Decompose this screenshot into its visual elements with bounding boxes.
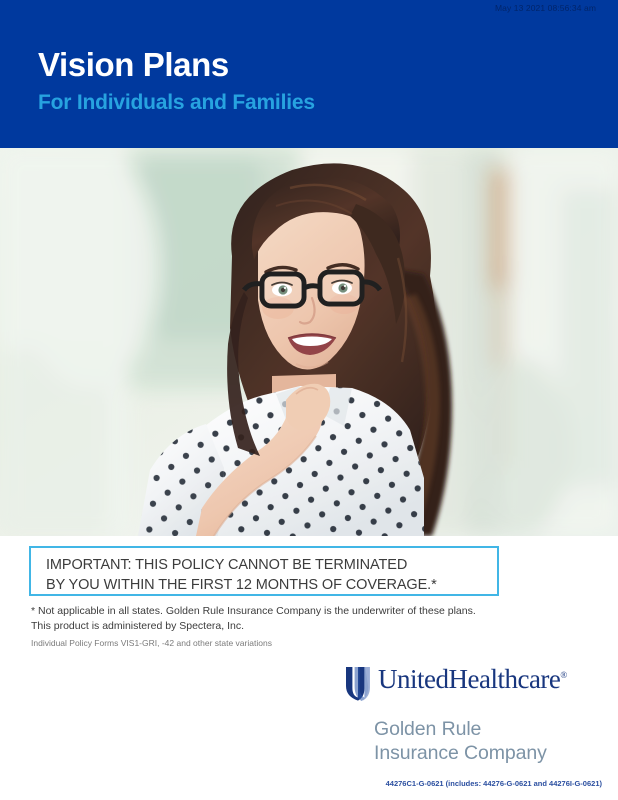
unitedhealthcare-wordmark: UnitedHealthcare® [378,666,567,693]
registered-trademark-symbol: ® [560,670,566,680]
brand-logo-block: UnitedHealthcare® Golden Rule Insurance … [345,666,600,766]
company-name: Golden Rule Insurance Company [374,718,600,766]
unitedhealthcare-shield-icon [345,666,371,707]
hero-photo [0,148,618,536]
important-notice-box: IMPORTANT: THIS POLICY CANNOT BE TERMINA… [29,546,499,596]
print-timestamp: May 13 2021 08:56:34 am [495,3,596,13]
title-block: Vision Plans For Individuals and Familie… [38,48,315,114]
page-title: Vision Plans [38,48,315,83]
policy-forms-note: Individual Policy Forms VIS1-GRI, -42 an… [31,638,531,650]
page-subtitle: For Individuals and Families [38,91,315,114]
disclaimer-footnote: * Not applicable in all states. Golden R… [31,604,531,634]
form-number: 44276C1-G-0621 (includes: 44276-G-0621 a… [386,779,602,788]
brochure-cover-page: May 13 2021 08:56:34 am Vision Plans For… [0,0,618,800]
important-notice-text: IMPORTANT: THIS POLICY CANNOT BE TERMINA… [46,556,437,595]
wordmark-text: UnitedHealthcare [378,664,560,694]
header-band: May 13 2021 08:56:34 am Vision Plans For… [0,0,618,148]
